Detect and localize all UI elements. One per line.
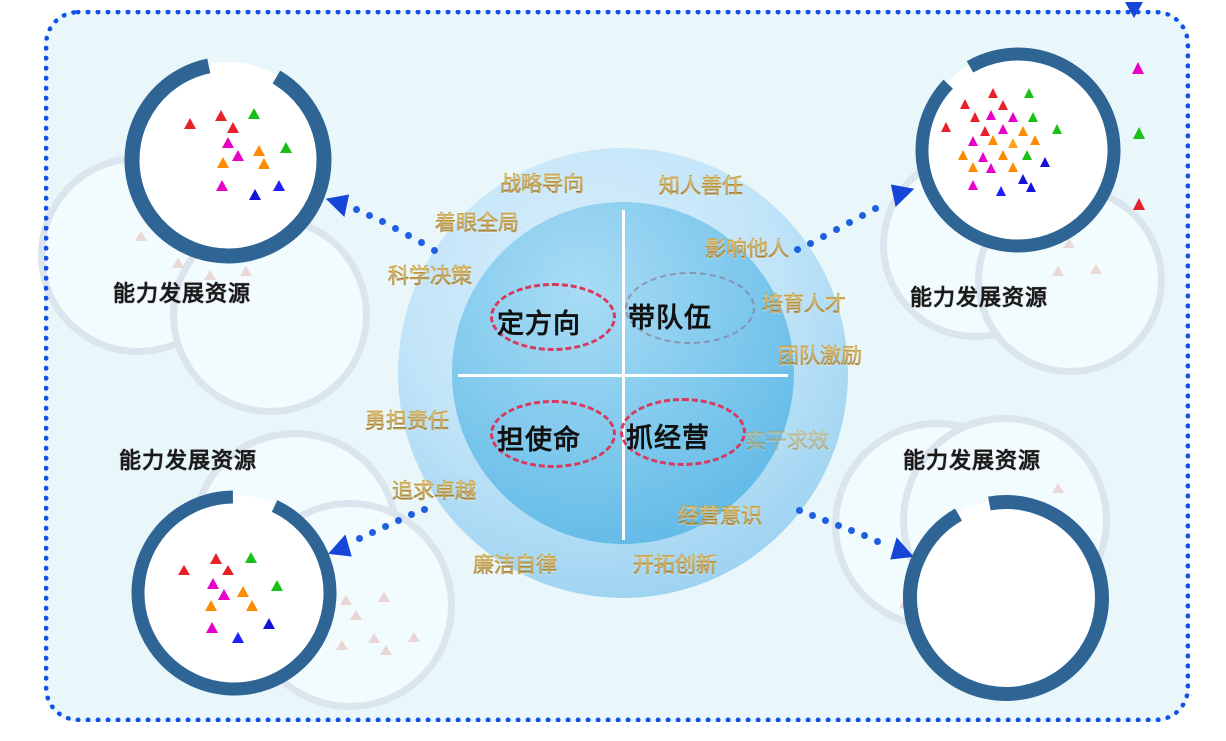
marker-triangle-faint	[1063, 238, 1075, 248]
marker-triangle	[996, 186, 1006, 196]
marker-triangle	[178, 565, 190, 575]
marker-triangle	[1052, 124, 1062, 134]
marker-triangle	[970, 112, 980, 122]
keyword-tuan-dui-ji-li: 团队激励	[778, 340, 862, 370]
marker-triangle	[280, 142, 292, 153]
quadrant-divider-horizontal	[458, 374, 788, 377]
marker-triangle	[227, 122, 239, 133]
marker-triangle	[218, 589, 230, 600]
marker-triangle	[253, 145, 265, 156]
marker-triangle	[988, 88, 998, 98]
marker-triangle	[960, 99, 970, 109]
marker-triangle	[216, 180, 228, 191]
marker-triangle	[1024, 88, 1034, 98]
marker-triangle	[1008, 138, 1018, 148]
resource-label-bottom-left: 能力发展资源	[119, 443, 257, 475]
marker-triangle	[184, 118, 196, 129]
keyword-ying-xiang-ta-ren: 影响他人	[705, 233, 789, 263]
marker-triangle	[245, 552, 257, 563]
marker-triangle-faint	[135, 231, 147, 241]
marker-triangle-faint	[350, 610, 362, 620]
resource-label-top-left: 能力发展资源	[113, 276, 251, 308]
marker-triangle	[222, 565, 234, 575]
resource-label-bottom-right: 能力发展资源	[903, 443, 1041, 475]
marker-triangle-faint	[336, 640, 348, 650]
marker-triangle-faint	[172, 258, 184, 268]
marker-triangle-faint	[368, 633, 380, 643]
marker-triangle	[246, 600, 258, 611]
marker-triangle-faint	[204, 270, 216, 280]
marker-triangle-faint	[240, 266, 252, 276]
marker-triangle	[248, 108, 260, 119]
stray-marker-red	[1133, 198, 1145, 210]
keyword-ke-xue-jue-ce: 科学决策	[388, 260, 472, 290]
keyword-pei-yu-ren-cai: 培育人才	[762, 288, 846, 318]
keyword-shi-gan-qiu-xiao: 实干求效	[745, 425, 829, 455]
keyword-lian-jie-zi-lv: 廉洁自律	[473, 549, 557, 579]
marker-triangle-faint	[408, 632, 420, 642]
marker-triangle	[968, 180, 978, 190]
quadrant-label-ding-fang-xiang[interactable]: 定方向	[497, 302, 581, 341]
marker-triangle	[978, 152, 988, 162]
marker-triangle	[998, 150, 1008, 160]
marker-triangle-faint	[380, 645, 392, 655]
marker-triangle-faint	[1052, 266, 1064, 276]
marker-triangle	[1028, 112, 1038, 122]
marker-triangle	[988, 135, 998, 145]
marker-triangle-faint	[1090, 264, 1102, 274]
marker-triangle	[1008, 112, 1018, 122]
marker-triangle	[263, 618, 275, 629]
keyword-yong-dan-ze-ren: 勇担责任	[365, 405, 449, 435]
marker-triangle	[986, 163, 996, 173]
resource-ring-bottom-right	[900, 492, 1112, 704]
keyword-jing-ying-yi-shi: 经营意识	[678, 500, 762, 530]
keyword-zhuo-yan-quan-ju: 着眼全局	[435, 207, 519, 237]
marker-triangle	[998, 124, 1008, 134]
marker-triangle	[968, 162, 978, 172]
quadrant-label-dai-dui-wu[interactable]: 带队伍	[628, 296, 712, 335]
marker-triangle	[1008, 162, 1018, 172]
quadrant-label-zhua-jing-ying[interactable]: 抓经营	[626, 416, 710, 455]
marker-triangle	[207, 578, 219, 589]
keyword-zhui-qiu-zhuo-yue: 追求卓越	[392, 475, 476, 505]
marker-triangle-faint	[340, 595, 352, 605]
marker-triangle	[1040, 157, 1050, 167]
resource-label-top-right: 能力发展资源	[910, 280, 1048, 312]
keyword-zhan-lue-dao-xiang: 战略导向	[500, 168, 584, 198]
marker-triangle	[941, 122, 951, 132]
marker-triangle	[205, 600, 217, 611]
marker-triangle	[210, 553, 222, 564]
marker-triangle	[998, 100, 1008, 110]
resource-ring-top-right	[912, 44, 1124, 256]
quadrant-label-dan-shi-ming[interactable]: 担使命	[497, 418, 581, 457]
marker-triangle	[968, 136, 978, 146]
keyword-zhi-ren-shan-ren: 知人善任	[659, 170, 743, 200]
marker-triangle	[986, 110, 996, 120]
marker-triangle	[206, 622, 218, 633]
marker-triangle-faint	[378, 592, 390, 602]
marker-triangle	[1022, 150, 1032, 160]
stray-marker-green	[1133, 127, 1145, 139]
marker-triangle	[1026, 182, 1036, 192]
marker-triangle	[1018, 126, 1028, 136]
frame-top-arrow-icon	[1125, 2, 1143, 18]
marker-triangle	[258, 158, 270, 169]
diagram-canvas: 定方向 带队伍 担使命 抓经营 战略导向 着眼全局 科学决策 知人善任 影响他人…	[0, 0, 1226, 741]
resource-ring-bottom-left	[128, 487, 340, 699]
marker-triangle	[232, 632, 244, 643]
marker-triangle	[249, 189, 261, 200]
marker-triangle	[237, 586, 249, 597]
marker-triangle	[273, 180, 285, 191]
marker-triangle	[958, 150, 968, 160]
marker-triangle	[222, 137, 234, 148]
marker-triangle	[1030, 135, 1040, 145]
marker-triangle	[271, 580, 283, 591]
marker-triangle	[232, 150, 244, 161]
marker-triangle	[215, 110, 227, 121]
marker-triangle	[217, 157, 229, 168]
keyword-kai-tuo-chuang-xin: 开拓创新	[633, 549, 717, 579]
stray-marker-magenta	[1132, 62, 1144, 74]
